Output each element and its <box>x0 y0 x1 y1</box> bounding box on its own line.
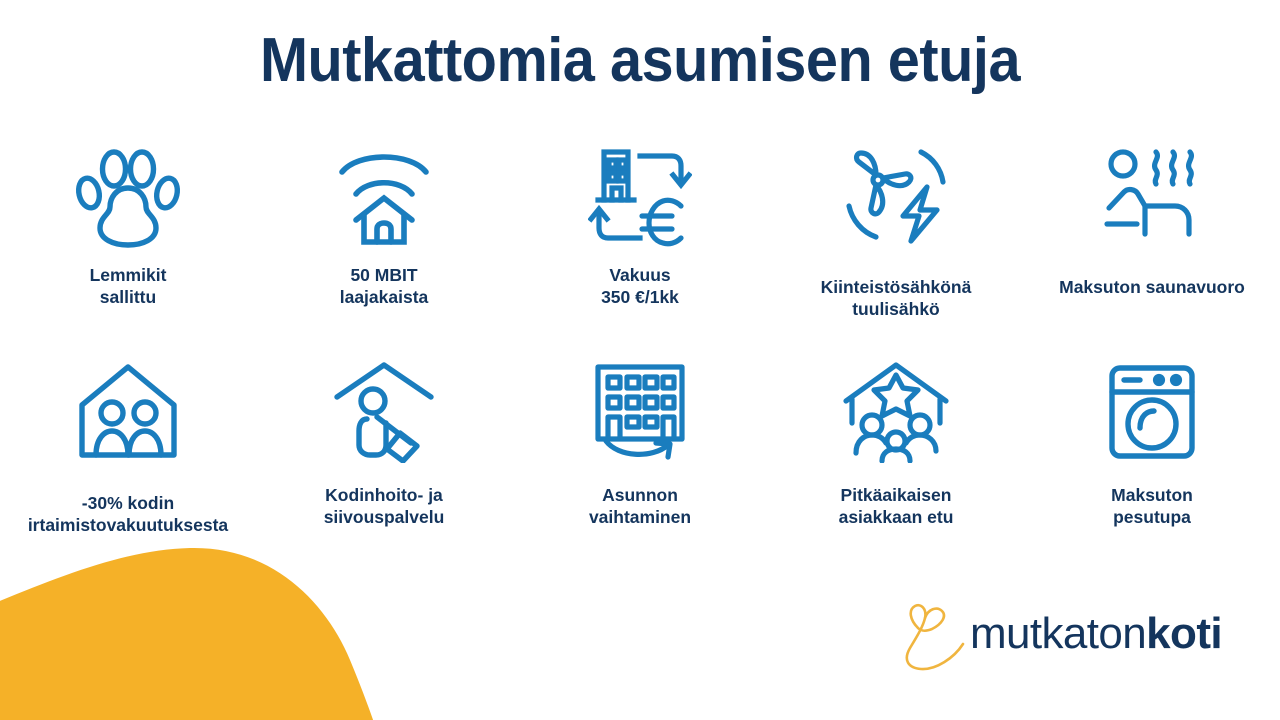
apartment-swap-icon <box>586 358 694 466</box>
benefit-label: Pitkäaikaisen asiakkaan etu <box>839 484 954 529</box>
benefit-label: Maksuton saunavuoro <box>1059 276 1245 298</box>
building-euro-exchange-icon <box>588 142 692 250</box>
benefit-label: 50 MBIT laajakaista <box>340 264 429 309</box>
logo-text-light: mutkaton <box>970 609 1146 658</box>
benefit-label: Lemmikit sallittu <box>90 264 167 309</box>
benefit-label: -30% kodin irtaimistovakuutuksesta <box>28 492 228 537</box>
benefit-item-apartment-swap: Asunnon vaihtaminen <box>512 358 768 537</box>
benefit-item-home-insurance: -30% kodin irtaimistovakuutuksesta <box>0 358 256 537</box>
benefit-item-laundry: Maksuton pesutupa <box>1024 358 1280 537</box>
yellow-blob-decoration <box>0 530 400 720</box>
house-family-icon <box>74 358 182 466</box>
sauna-person-steam-icon <box>1097 142 1207 250</box>
benefit-label: Kodinhoito- ja siivouspalvelu <box>324 484 445 529</box>
roof-cleaner-mop-icon <box>331 358 437 466</box>
benefit-item-sauna: Maksuton saunavuoro <box>1024 142 1280 321</box>
benefits-row-1: Lemmikit sallittu 50 MBIT laajakaista <box>0 142 1280 321</box>
benefit-label: Vakuus 350 €/1kk <box>601 264 679 309</box>
benefit-item-loyal-customer: Pitkäaikaisen asiakkaan etu <box>768 358 1024 537</box>
heart-swoosh-icon <box>894 596 966 672</box>
benefit-label: Asunnon vaihtaminen <box>589 484 691 529</box>
wind-turbine-lightning-icon <box>843 142 949 250</box>
wifi-house-icon <box>332 142 436 250</box>
benefits-row-2: -30% kodin irtaimistovakuutuksesta Kodin… <box>0 358 1280 537</box>
logo-wordmark: mutkatonkoti <box>970 612 1222 656</box>
benefit-item-deposit: Vakuus 350 €/1kk <box>512 142 768 321</box>
page-title: Mutkattomia asumisen etuja <box>45 28 1235 93</box>
brand-logo: mutkatonkoti <box>894 596 1222 672</box>
logo-text-bold: koti <box>1146 609 1222 658</box>
slide-canvas: Mutkattomia asumisen etuja Lemmikit sall… <box>0 0 1280 720</box>
benefit-item-cleaning-service: Kodinhoito- ja siivouspalvelu <box>256 358 512 537</box>
roof-star-people-icon <box>840 358 952 466</box>
benefit-label: Maksuton pesutupa <box>1111 484 1193 529</box>
benefit-item-pets: Lemmikit sallittu <box>0 142 256 321</box>
washing-machine-icon <box>1104 358 1200 466</box>
benefit-item-wind-electricity: Kiinteistösähkönä tuulisähkö <box>768 142 1024 321</box>
paw-print-icon <box>70 142 186 250</box>
benefit-item-broadband: 50 MBIT laajakaista <box>256 142 512 321</box>
benefit-label: Kiinteistösähkönä tuulisähkö <box>821 276 972 321</box>
